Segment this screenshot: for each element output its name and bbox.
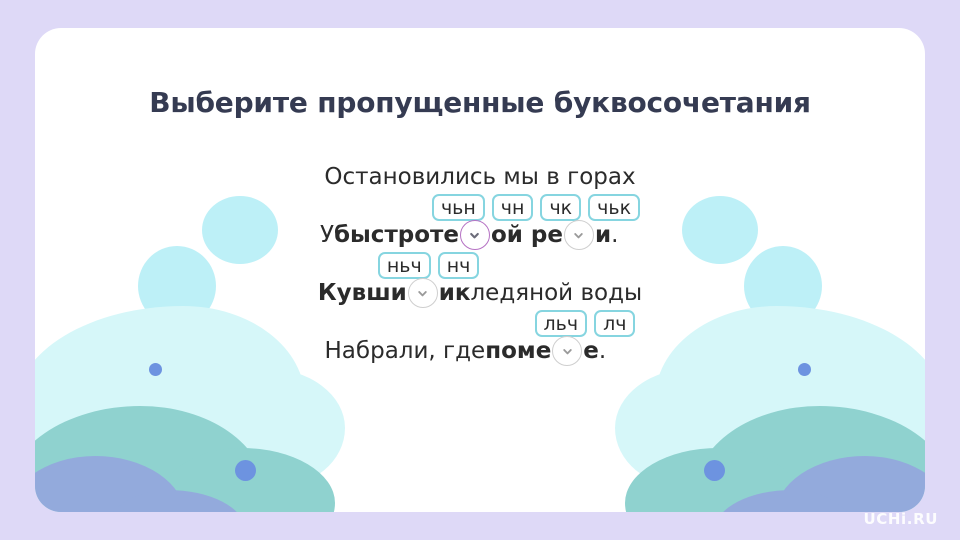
decor-blob-left-teal-2 <box>155 448 335 512</box>
decor-blob-right-pale-2 <box>615 368 775 488</box>
chevron-down-icon <box>572 229 585 242</box>
sentence-text: . <box>611 218 618 252</box>
option-chip[interactable]: льч <box>535 310 588 337</box>
decor-blob-right-blue-2 <box>715 490 855 512</box>
brand-watermark: UCHi.RU <box>863 510 938 528</box>
page-title: Выберите пропущенные буквосочетания <box>35 86 925 119</box>
sentence: Остановились мы в горах <box>324 160 635 194</box>
exercise-line: льчлчНабрали, где помее. <box>325 310 636 368</box>
option-chip[interactable]: чьк <box>588 194 640 221</box>
decor-blob-right-blue-1 <box>775 456 925 512</box>
sentence-text-bold: Кувши <box>318 276 407 310</box>
option-chip-row: льчлч <box>535 310 636 337</box>
slide-stage: Выберите пропущенные буквосочетания Оста… <box>0 0 960 540</box>
sentence-text: Набрали, где <box>325 334 486 368</box>
exercise-line: ньчнчКувшиик ледяной воды <box>318 252 642 310</box>
option-chip[interactable]: лч <box>594 310 635 337</box>
decor-blob-left-pale-2 <box>185 368 345 488</box>
option-chip[interactable]: чк <box>540 194 581 221</box>
sentence-text-bold: быстроте <box>334 218 459 252</box>
exercise-body: Остановились мы в горахчьнчнчкчькУ быстр… <box>35 160 925 368</box>
content-card: Выберите пропущенные буквосочетания Оста… <box>35 28 925 512</box>
exercise-line: чьнчнчкчькУ быстротеой реи. <box>320 194 640 252</box>
sentence: Кувшиик ледяной воды <box>318 276 642 310</box>
chevron-down-icon <box>468 229 481 242</box>
option-chip[interactable]: чьн <box>432 194 485 221</box>
letter-dropdown[interactable] <box>408 278 438 308</box>
option-chip[interactable]: нч <box>438 252 480 279</box>
sentence-text: . <box>599 334 606 368</box>
decor-blob-left-blue-2 <box>105 490 245 512</box>
option-chip-row: чьнчнчкчьк <box>432 194 640 221</box>
option-chip[interactable]: ньч <box>378 252 431 279</box>
decor-dot-right-2 <box>704 460 725 481</box>
decor-blob-left-teal-1 <box>35 406 265 512</box>
letter-dropdown[interactable] <box>552 336 582 366</box>
option-chip[interactable]: чн <box>492 194 534 221</box>
chevron-down-icon <box>561 345 574 358</box>
sentence: Набрали, где помее. <box>325 334 636 368</box>
sentence-text: Остановились мы в горах <box>324 160 635 194</box>
decor-blob-right-teal-1 <box>695 406 925 512</box>
sentence-text-bold: ик <box>439 276 471 310</box>
sentence-text-bold: поме <box>485 334 551 368</box>
exercise-line: Остановились мы в горах <box>324 160 635 194</box>
sentence-text-bold: ой ре <box>491 218 563 252</box>
decor-blob-right-teal-2 <box>625 448 805 512</box>
letter-dropdown[interactable] <box>564 220 594 250</box>
letter-dropdown[interactable] <box>460 220 490 250</box>
sentence-text: ледяной воды <box>470 276 642 310</box>
decor-blob-left-blue-1 <box>35 456 185 512</box>
decor-dot-left-2 <box>235 460 256 481</box>
option-chip-row: ньчнч <box>378 252 642 279</box>
sentence: У быстротеой реи. <box>320 218 640 252</box>
sentence-text-bold: е <box>583 334 599 368</box>
sentence-text-bold: и <box>595 218 611 252</box>
chevron-down-icon <box>416 287 429 300</box>
sentence-text: У <box>320 218 334 252</box>
